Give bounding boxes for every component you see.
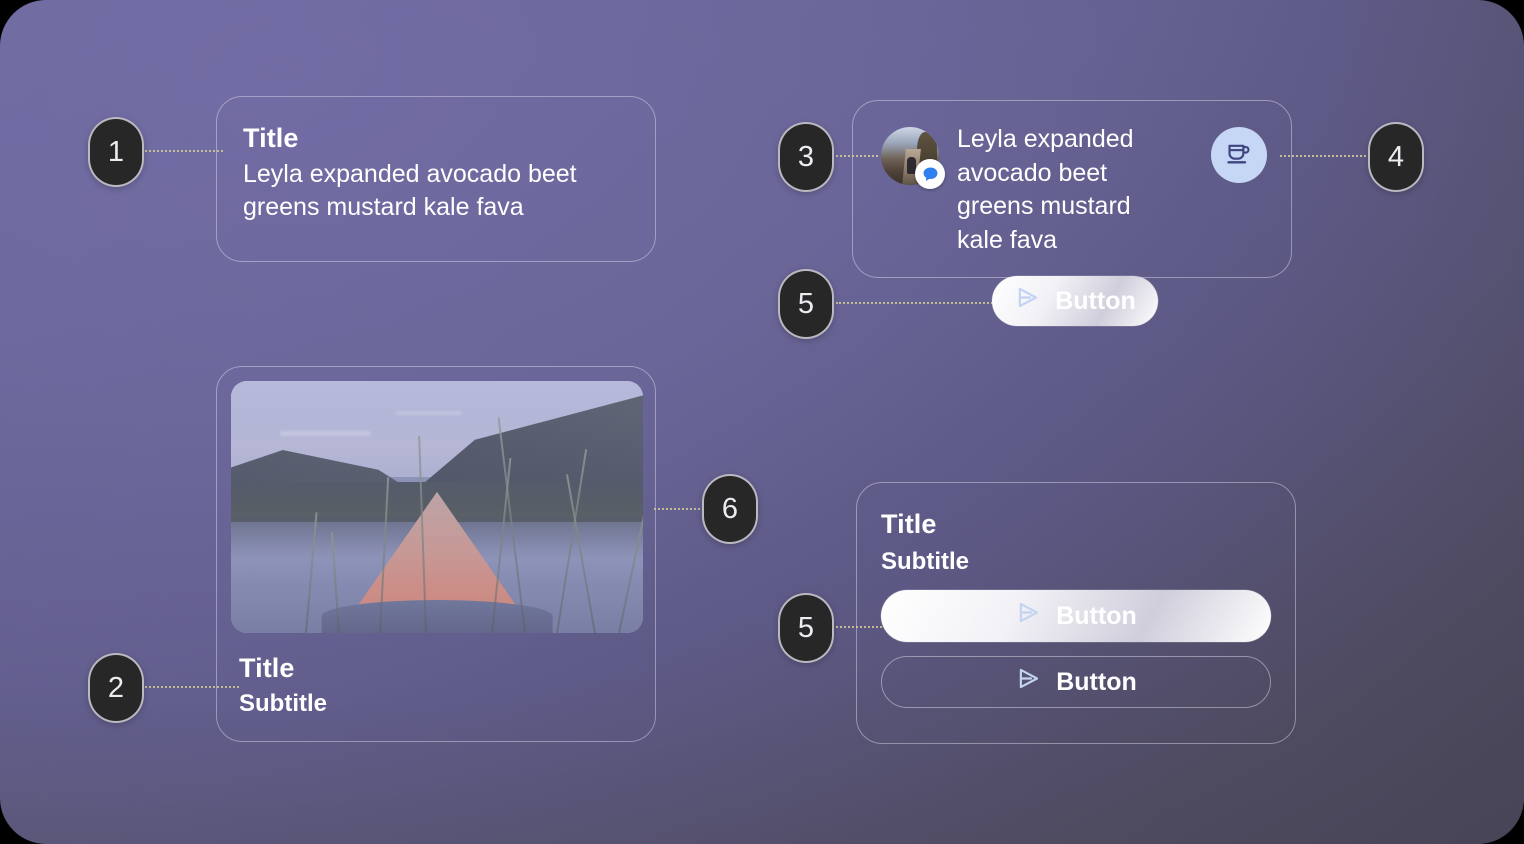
connector-4	[1280, 155, 1366, 159]
connector-3	[836, 155, 878, 159]
connector-5-top	[836, 302, 996, 306]
coffee-cup-icon[interactable]	[1211, 127, 1267, 183]
avatar-message-card[interactable]: Leyla expanded avocado beet greens musta…	[852, 100, 1292, 278]
card-body-text: Leyla expanded avocado beet greens musta…	[957, 123, 1157, 257]
annotation-badge-label: 2	[108, 672, 124, 705]
annotation-badge-label: 5	[798, 612, 814, 645]
card-subtitle: Subtitle	[881, 548, 1271, 576]
avatar[interactable]	[881, 127, 939, 185]
connector-2	[145, 686, 239, 690]
send-icon	[1014, 284, 1041, 318]
text-card-content: Title Leyla expanded avocado beet greens…	[217, 97, 655, 225]
card-title: Title	[239, 653, 655, 684]
card-title: Title	[881, 509, 1271, 540]
send-button-primary[interactable]: Button	[881, 590, 1271, 642]
send-button-secondary[interactable]: Button	[881, 656, 1271, 708]
card-title: Title	[243, 123, 627, 154]
annotation-badge-1[interactable]: 1	[88, 117, 144, 187]
annotation-badge-label: 5	[798, 288, 814, 321]
card-body-text: Leyla expanded avocado beet greens musta…	[243, 158, 627, 225]
text-card[interactable]: Title Leyla expanded avocado beet greens…	[216, 96, 656, 262]
annotation-badge-3[interactable]: 3	[778, 122, 834, 192]
send-button-label: Button	[1056, 602, 1137, 631]
send-icon	[1015, 665, 1042, 699]
annotation-badge-label: 4	[1388, 141, 1404, 174]
send-button-label: Button	[1055, 287, 1136, 316]
card-subtitle: Subtitle	[239, 690, 655, 718]
annotation-badge-2[interactable]: 2	[88, 653, 144, 723]
annotation-badge-5-top[interactable]: 5	[778, 269, 834, 339]
action-card[interactable]: Title Subtitle Button B	[856, 482, 1296, 744]
annotation-badge-6[interactable]: 6	[702, 474, 758, 544]
action-card-content: Title Subtitle Button B	[857, 483, 1295, 708]
kayak-lake-photo	[231, 381, 643, 633]
connector-5-bottom	[836, 626, 882, 630]
annotation-badge-label: 1	[108, 136, 124, 169]
send-button-label: Button	[1056, 668, 1137, 697]
media-card[interactable]: Title Subtitle	[216, 366, 656, 742]
photo-color-tint	[231, 381, 643, 633]
connector-6	[654, 508, 704, 512]
media-card-meta: Title Subtitle	[217, 633, 655, 718]
media-card-thumb-wrap	[217, 367, 655, 633]
send-icon	[1015, 599, 1042, 633]
connector-1	[145, 150, 223, 154]
annotation-badge-4[interactable]: 4	[1368, 122, 1424, 192]
send-button[interactable]: Button	[992, 276, 1158, 326]
annotation-badge-label: 6	[722, 493, 738, 526]
annotation-badge-5-bottom[interactable]: 5	[778, 593, 834, 663]
chat-bubble-icon	[915, 159, 945, 189]
design-canvas: 1 2 3 4 5 5 6 Title Leyla expanded avoca…	[0, 0, 1524, 844]
annotation-badge-label: 3	[798, 141, 814, 174]
